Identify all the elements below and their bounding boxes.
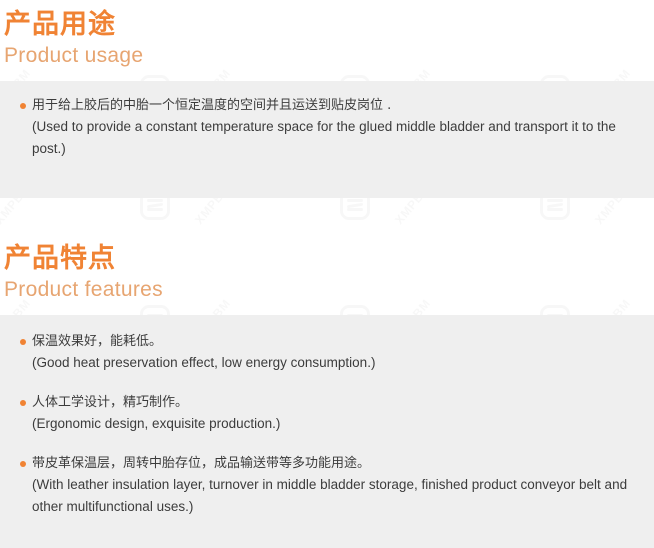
item-text-chinese: 人体工学设计，精巧制作。 [32, 392, 644, 413]
heading-chinese: 产品用途 [4, 8, 654, 42]
heading-english: Product usage [4, 42, 654, 69]
bullet-dot-icon [20, 461, 26, 467]
list-item: 人体工学设计，精巧制作。 (Ergonomic design, exquisit… [0, 392, 654, 435]
section-heading-features: 产品特点 Product features [0, 242, 654, 303]
item-text-english: (Good heat preservation effect, low ener… [32, 352, 644, 374]
bullet-dot-icon [20, 400, 26, 406]
list-item: 带皮革保温层，周转中胎存位，成品输送带等多功能用途。 (With leather… [0, 453, 654, 518]
heading-english: Product features [4, 276, 654, 303]
item-text-english: (Ergonomic design, exquisite production.… [32, 413, 644, 435]
item-text-english: (With leather insulation layer, turnover… [32, 474, 644, 518]
item-text-chinese: 用于给上胶后的中胎一个恒定温度的空间并且运送到贴皮岗位 . [32, 95, 644, 116]
heading-chinese: 产品特点 [4, 242, 654, 276]
bullet-dot-icon [20, 103, 26, 109]
bullet-dot-icon [20, 339, 26, 345]
product-info-page: 产品用途 Product usage 用于给上胶后的中胎一个恒定温度的空间并且运… [0, 0, 654, 548]
list-item: 用于给上胶后的中胎一个恒定温度的空间并且运送到贴皮岗位 . (Used to p… [0, 95, 654, 160]
content-panel-usage: 用于给上胶后的中胎一个恒定温度的空间并且运送到贴皮岗位 . (Used to p… [0, 81, 654, 198]
item-text-chinese: 带皮革保温层，周转中胎存位，成品输送带等多功能用途。 [32, 453, 644, 474]
section-product-usage: 产品用途 Product usage 用于给上胶后的中胎一个恒定温度的空间并且运… [0, 0, 654, 198]
item-text-chinese: 保温效果好，能耗低。 [32, 331, 644, 352]
item-text-english: (Used to provide a constant temperature … [32, 116, 644, 160]
section-heading-usage: 产品用途 Product usage [0, 0, 654, 69]
section-product-features: 产品特点 Product features 保温效果好，能耗低。 (Good h… [0, 242, 654, 548]
list-item: 保温效果好，能耗低。 (Good heat preservation effec… [0, 331, 654, 374]
content-panel-features: 保温效果好，能耗低。 (Good heat preservation effec… [0, 315, 654, 548]
